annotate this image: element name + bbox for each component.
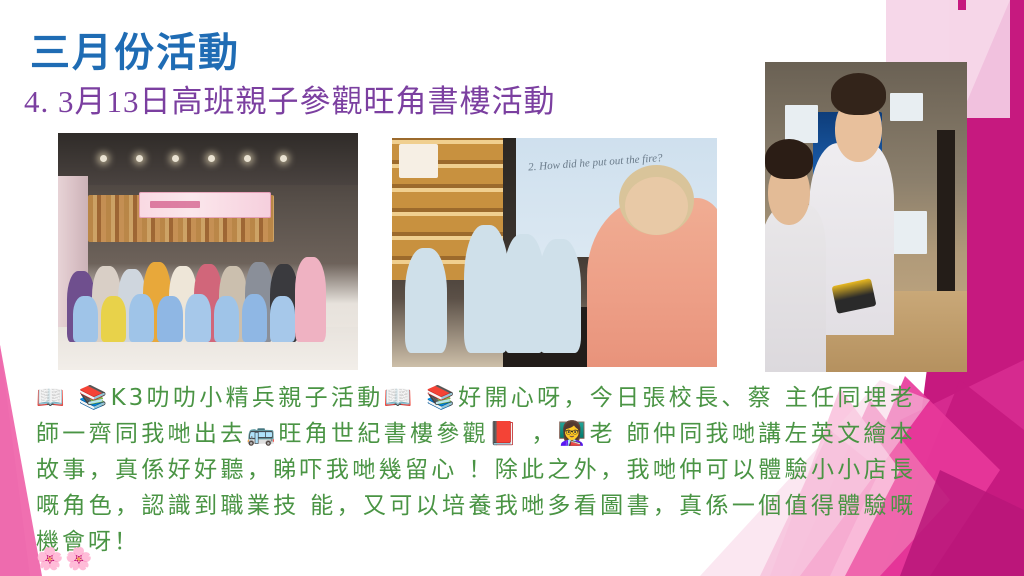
group-of-people — [67, 228, 349, 342]
body-paragraph: 📖 📚K3叻叻小精兵親子活動📖 📚好開心呀，今日張校長、蔡 主任同埋老師一齊同我… — [36, 380, 916, 560]
page-subtitle: 4. 3月13日高班親子參觀旺角書樓活動 — [24, 76, 556, 121]
left-pink-wedge-light — [0, 345, 30, 576]
scanner-photo — [765, 62, 967, 372]
teacher-figure — [587, 198, 717, 367]
bottom-pink-poly-8 — [900, 470, 1024, 576]
flower-decoration: 🌸🌸 — [36, 548, 95, 570]
top-strip — [958, 0, 966, 10]
right-magenta-band — [962, 0, 1024, 576]
event-banner — [139, 192, 271, 218]
page-title: 三月份活動 — [30, 20, 240, 78]
child-watching — [765, 205, 826, 372]
ceiling-lights — [58, 133, 358, 185]
screen-text: 2. How did he put out the fire? — [527, 148, 713, 173]
body-line-1: 📖 📚K3叻叻小精兵親子活動📖 📚好開心呀，今日張校長、蔡 — [36, 385, 774, 411]
slide: 三月份活動 4. 3月13日高班親子參觀旺角書樓活動 — [0, 0, 1024, 576]
group-photo — [58, 133, 358, 370]
story-photo: 2. How did he put out the fire? — [392, 138, 717, 367]
